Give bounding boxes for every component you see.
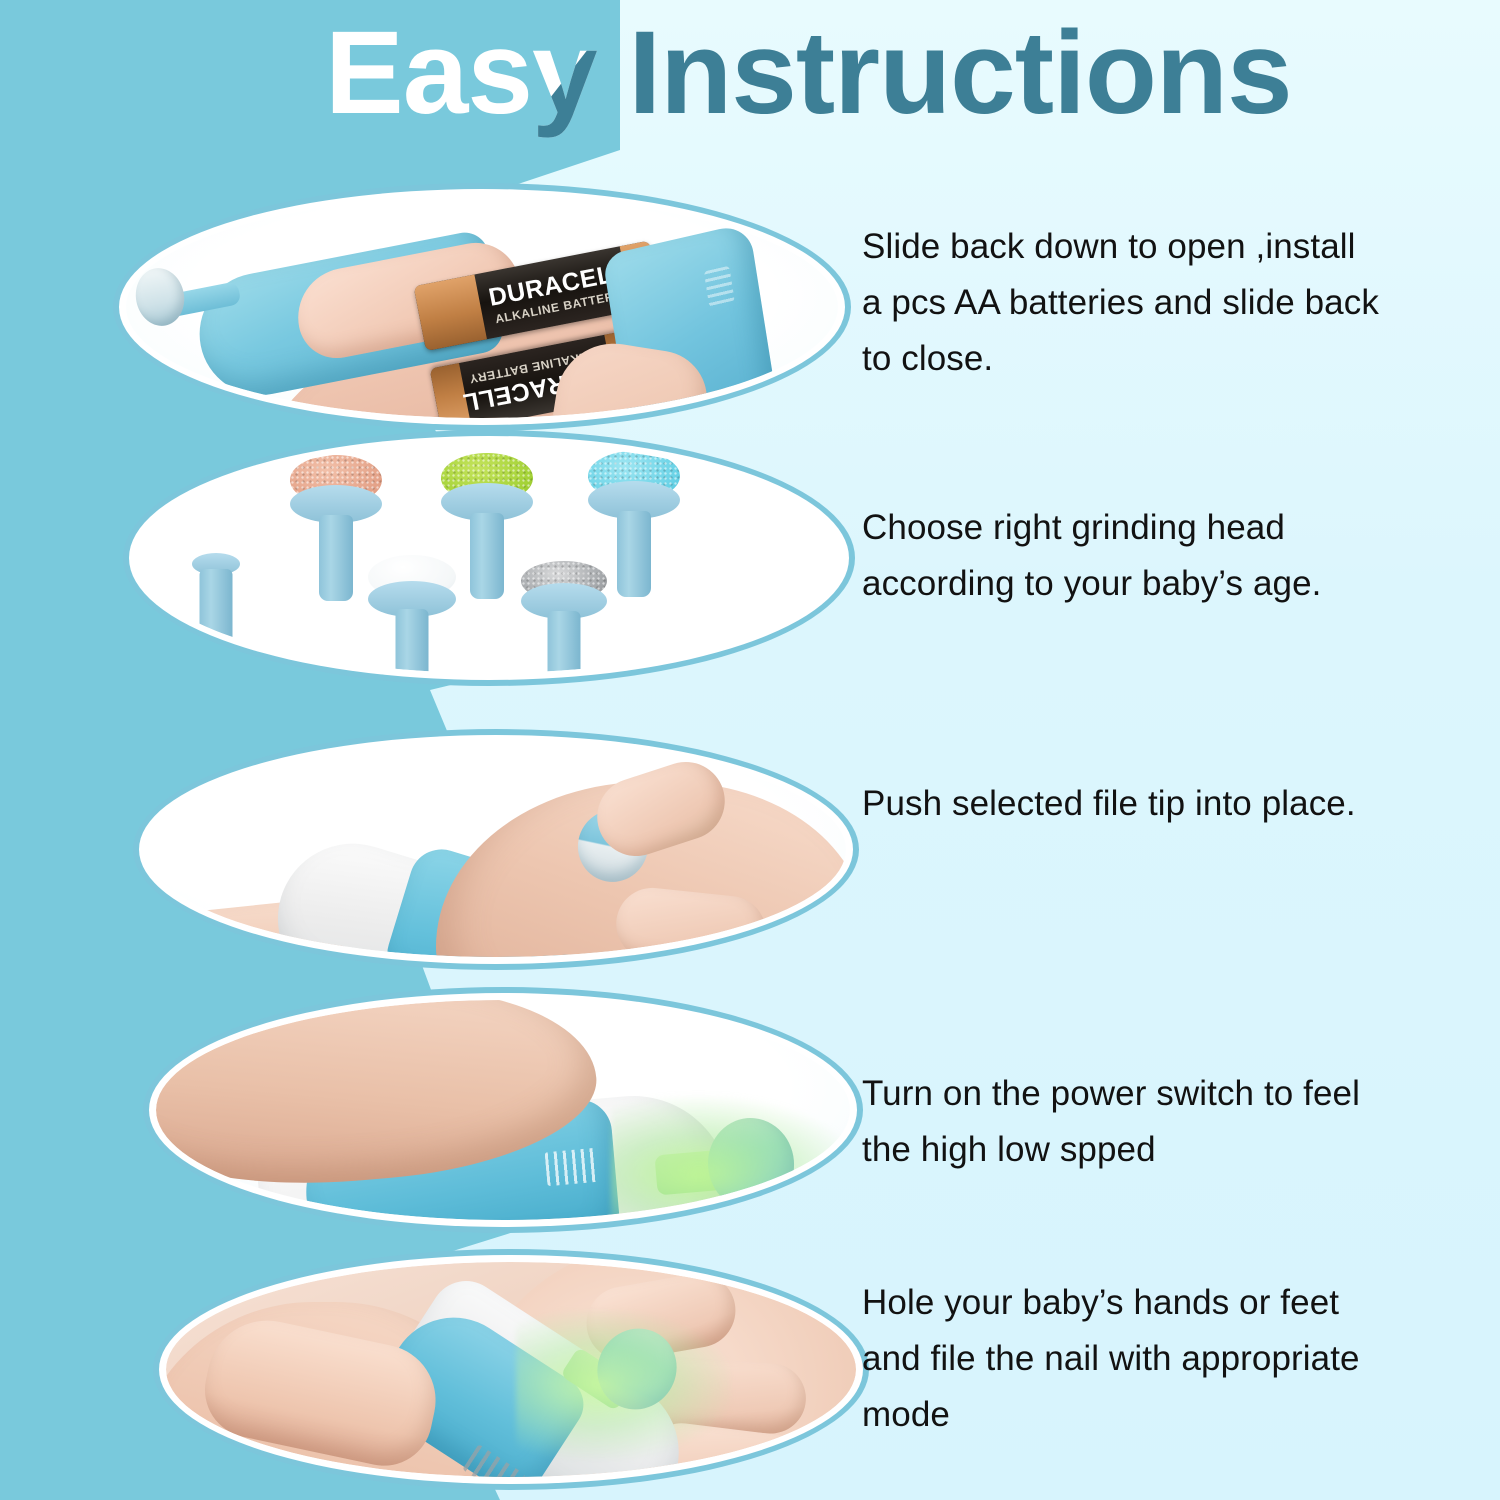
metal-file-bit xyxy=(210,485,223,563)
trimmer-tip-head xyxy=(131,264,189,330)
head-stem xyxy=(470,513,504,599)
step-1-line-2: a pcs AA batteries and slide back xyxy=(862,275,1382,331)
step-4-photo xyxy=(156,1000,850,1220)
head-stem xyxy=(617,511,651,597)
step-3-text: Push selected file tip into place. xyxy=(862,776,1422,832)
page-title: Easy Instructions Easy Instructions xyxy=(0,8,1500,143)
step-1-line-3: to close. xyxy=(862,331,1382,387)
battery-positive-cap xyxy=(414,274,487,351)
grinding-head-white xyxy=(364,555,460,673)
trimmer-speed-markings xyxy=(545,1148,600,1186)
head-stem xyxy=(548,611,581,673)
step-1-photo: DURACELL ALKALINE BATTERY DURACELL ALKAL… xyxy=(126,196,838,418)
step-2-text: Choose right grinding head according to … xyxy=(862,500,1382,612)
step-5-line-3: mode xyxy=(862,1387,1422,1443)
step-2-photo xyxy=(136,443,842,673)
step-5-line-2: and file the nail with appropriate xyxy=(862,1331,1422,1387)
step-1-line-1: Slide back down to open ,install xyxy=(862,219,1382,275)
head-stem xyxy=(396,609,429,673)
step-3-photo xyxy=(146,742,846,957)
step-1-text: Slide back down to open ,install a pcs A… xyxy=(862,219,1382,387)
step-3-line-1: Push selected file tip into place. xyxy=(862,776,1422,832)
step-2-line-2: according to your baby’s age. xyxy=(862,556,1382,612)
grinding-head-metal-file xyxy=(188,485,244,650)
step-4-text: Turn on the power switch to feel the hig… xyxy=(862,1066,1402,1178)
step-4-line-2: the high low spped xyxy=(862,1122,1402,1178)
head-stem xyxy=(200,569,233,651)
step-2-line-1: Choose right grinding head xyxy=(862,500,1382,556)
step-5-photo xyxy=(166,1262,856,1477)
step-5-text: Hole your baby’s hands or feet and file … xyxy=(862,1275,1422,1443)
grinding-head-grit xyxy=(516,561,612,673)
step-4-line-1: Turn on the power switch to feel xyxy=(862,1066,1402,1122)
head-stem xyxy=(319,515,353,601)
step-5-line-1: Hole your baby’s hands or feet xyxy=(862,1275,1422,1331)
